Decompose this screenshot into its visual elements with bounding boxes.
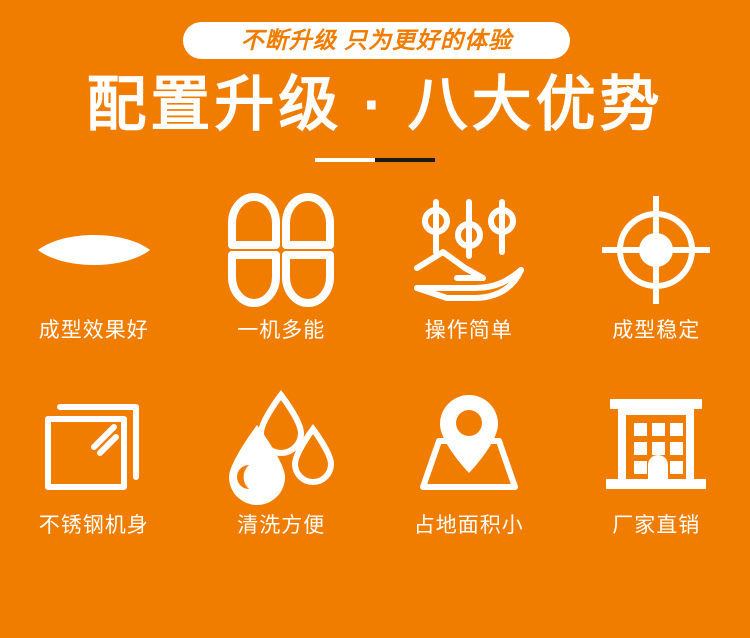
feature-item-6: 清洗方便 [188,385,376,580]
promo-banner: 不断升级 只为更好的体验 配置升级 · 八大优势 成型效果好 [0,0,750,638]
feature-grid: 成型效果好 一机多能 [0,190,750,590]
title-divider [315,158,435,162]
feature-label-7: 占地面积小 [414,513,524,538]
divider-right-segment [375,158,435,162]
hand-sliders-icon [409,190,529,310]
feature-label-2: 一机多能 [237,318,325,343]
feature-label-1: 成型效果好 [39,318,149,343]
water-drops-icon [221,385,341,505]
crosshair-target-icon [596,190,716,310]
stainless-sheets-icon [34,385,154,505]
divider-left-segment [315,158,375,162]
feature-label-3: 操作简单 [425,318,513,343]
feature-item-3: 操作简单 [375,190,563,385]
lens-shape-icon [34,190,154,310]
banner-header: 不断升级 只为更好的体验 配置升级 · 八大优势 [0,0,750,180]
feature-item-8: 厂家直销 [563,385,750,580]
feature-item-4: 成型稳定 [563,190,750,385]
feature-item-7: 占地面积小 [375,385,563,580]
page-title: 配置升级 · 八大优势 [0,72,750,138]
feature-label-8: 厂家直销 [612,513,700,538]
map-pin-icon [409,385,529,505]
badge-label: 不断升级 只为更好的体验 [241,29,512,52]
feature-label-5: 不锈钢机身 [39,513,149,538]
feature-item-2: 一机多能 [188,190,376,385]
feature-item-1: 成型效果好 [0,190,188,385]
four-petal-icon [221,190,341,310]
feature-label-6: 清洗方便 [237,513,325,538]
factory-building-icon [596,385,716,505]
badge-pill: 不断升级 只为更好的体验 [183,22,570,59]
feature-item-5: 不锈钢机身 [0,385,188,580]
feature-label-4: 成型稳定 [612,318,700,343]
